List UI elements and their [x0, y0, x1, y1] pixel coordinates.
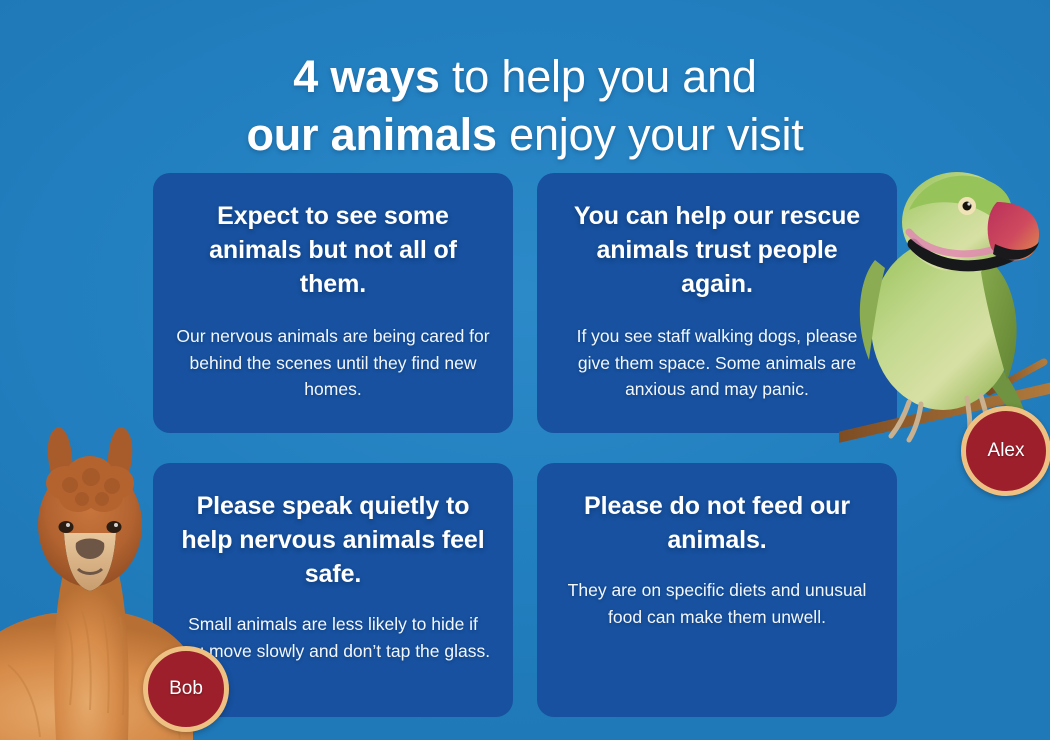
animal-name-badge-bob-label: Bob [169, 678, 203, 700]
tip-card-3-title: Please speak quietly to help nervous ani… [175, 489, 491, 591]
tip-card-1-body: Our nervous animals are being cared for … [175, 323, 491, 403]
animal-name-badge-alex[interactable]: Alex [961, 406, 1050, 496]
tips-grid: Expect to see some animals but not all o… [153, 173, 897, 717]
animal-name-badge-alex-label: Alex [988, 440, 1025, 462]
poster: 4 ways to help you and our animals enjoy… [0, 0, 1050, 740]
tip-card-4-body: They are on specific diets and unusual f… [559, 577, 875, 630]
tip-card-3-body: Small animals are less likely to hide if… [175, 611, 491, 664]
tip-card-1-title: Expect to see some animals but not all o… [175, 199, 491, 301]
tip-card-2-title: You can help our rescue animals trust pe… [559, 199, 875, 301]
tip-card-4-title: Please do not feed our animals. [559, 489, 875, 557]
tip-card-4[interactable]: Please do not feed our animals. They are… [537, 463, 897, 717]
animal-name-badge-bob[interactable]: Bob [143, 646, 229, 732]
tip-card-1[interactable]: Expect to see some animals but not all o… [153, 173, 513, 433]
tip-card-2-body: If you see staff walking dogs, please gi… [559, 323, 875, 403]
